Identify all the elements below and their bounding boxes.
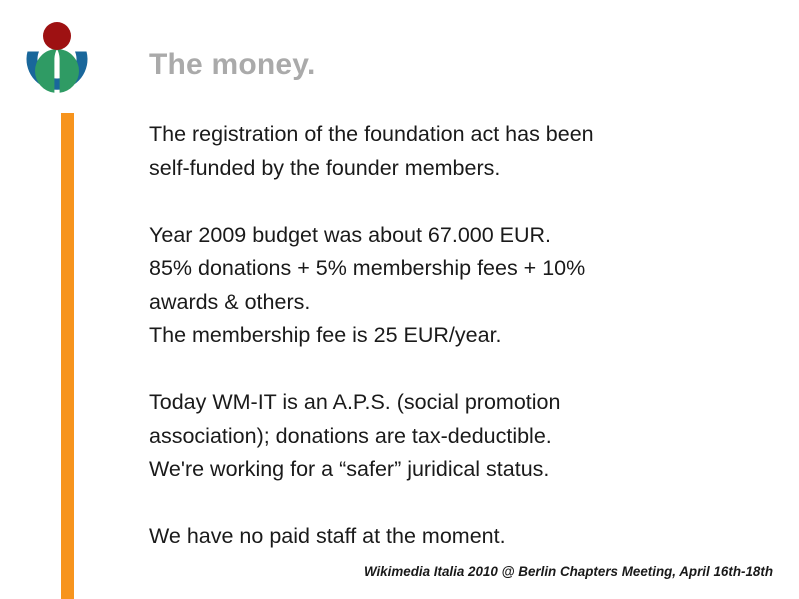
paragraph: The registration of the foundation act h… — [149, 118, 709, 185]
body-line: 85% donations + 5% membership fees + 10% — [149, 252, 709, 286]
paragraph: Today WM-IT is an A.P.S. (social promoti… — [149, 386, 709, 487]
paragraph: Year 2009 budget was about 67.000 EUR. 8… — [149, 219, 709, 353]
logo-leaf-right — [57, 49, 79, 93]
body-line: We have no paid staff at the moment. — [149, 520, 709, 554]
presentation-slide: The money. The registration of the found… — [0, 0, 799, 599]
body-line: association); donations are tax-deductib… — [149, 420, 709, 454]
accent-bar — [61, 113, 74, 599]
page-title: The money. — [149, 48, 315, 82]
body-line: The membership fee is 25 EUR/year. — [149, 319, 709, 353]
body-line: self-funded by the founder members. — [149, 152, 709, 186]
body-line: awards & others. — [149, 286, 709, 320]
wikimedia-logo-icon — [18, 18, 96, 106]
logo-dot — [43, 22, 71, 50]
slide-body: The registration of the foundation act h… — [149, 118, 709, 554]
body-line: Today WM-IT is an A.P.S. (social promoti… — [149, 386, 709, 420]
body-line: The registration of the foundation act h… — [149, 118, 709, 152]
body-line: We're working for a “safer” juridical st… — [149, 453, 709, 487]
logo-leaf-left — [35, 49, 57, 93]
wikimedia-logo — [18, 18, 96, 106]
body-line: Year 2009 budget was about 67.000 EUR. — [149, 219, 709, 253]
slide-footer: Wikimedia Italia 2010 @ Berlin Chapters … — [364, 564, 773, 579]
paragraph: We have no paid staff at the moment. — [149, 520, 709, 554]
